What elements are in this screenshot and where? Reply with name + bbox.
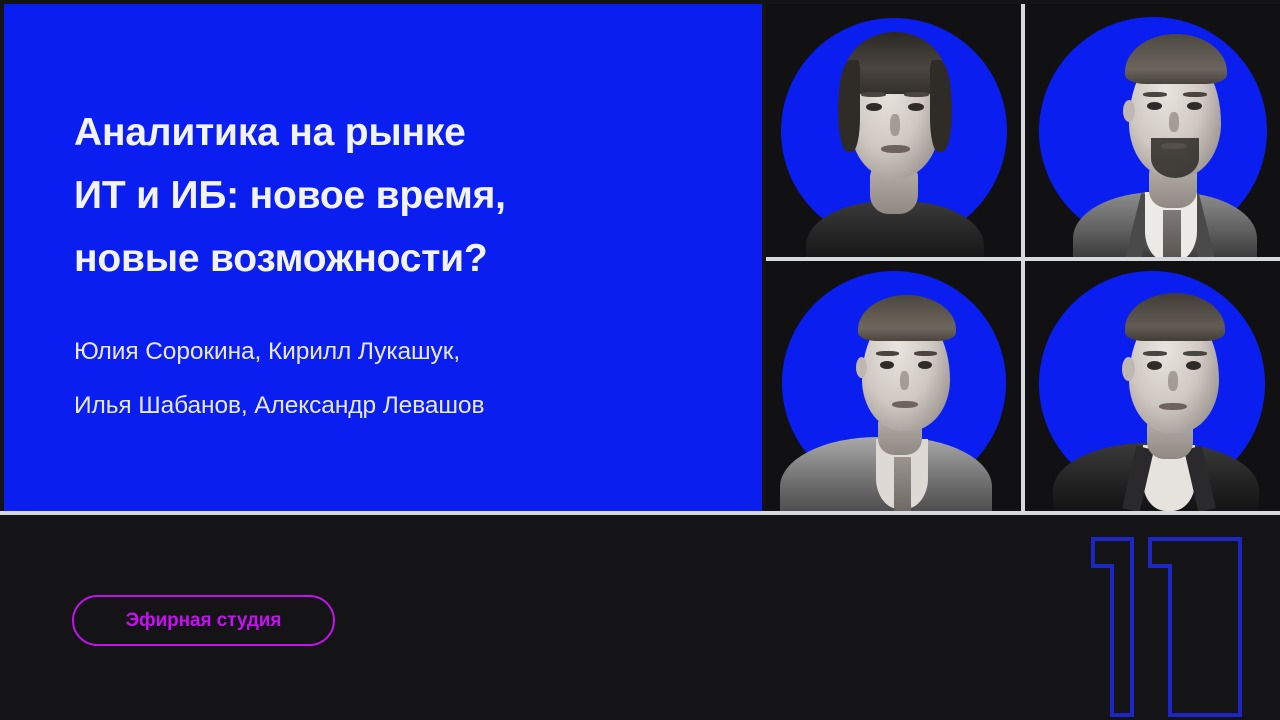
frame-edge-top xyxy=(0,0,1280,4)
portrait-aleksandr-levashov xyxy=(1025,261,1280,511)
presentation-slide: Аналитика на рынке ИТ и ИБ: новое время,… xyxy=(0,0,1280,720)
studio-badge[interactable]: Эфирная студия xyxy=(72,595,335,646)
session-number-graphic xyxy=(1080,523,1280,720)
frame-edge-left xyxy=(0,0,4,512)
session-number-outline-icon xyxy=(1080,523,1280,720)
slide-title: Аналитика на рынке ИТ и ИБ: новое время,… xyxy=(74,101,714,290)
speaker-photo-bottom-left xyxy=(766,261,1021,511)
slide-top-row: Аналитика на рынке ИТ и ИБ: новое время,… xyxy=(0,0,1280,512)
speakers-list: Юлия Сорокина, Кирилл Лукашук, Илья Шаба… xyxy=(74,290,714,433)
studio-badge-label: Эфирная студия xyxy=(126,610,282,632)
speaker-photo-top-left xyxy=(766,4,1021,257)
title-block: Аналитика на рынке ИТ и ИБ: новое время,… xyxy=(74,101,714,433)
speakers-photo-grid xyxy=(766,4,1280,511)
portrait-ilya-shabanov xyxy=(766,261,1021,511)
speaker-photo-bottom-right xyxy=(1025,261,1280,511)
speaker-photo-top-right xyxy=(1025,4,1280,257)
portrait-kirill-lukashuk xyxy=(1025,4,1280,257)
title-panel: Аналитика на рынке ИТ и ИБ: новое время,… xyxy=(4,4,762,511)
slide-footer: Эфирная студия xyxy=(0,515,1280,720)
portrait-yulia-sorokina xyxy=(766,4,1021,257)
